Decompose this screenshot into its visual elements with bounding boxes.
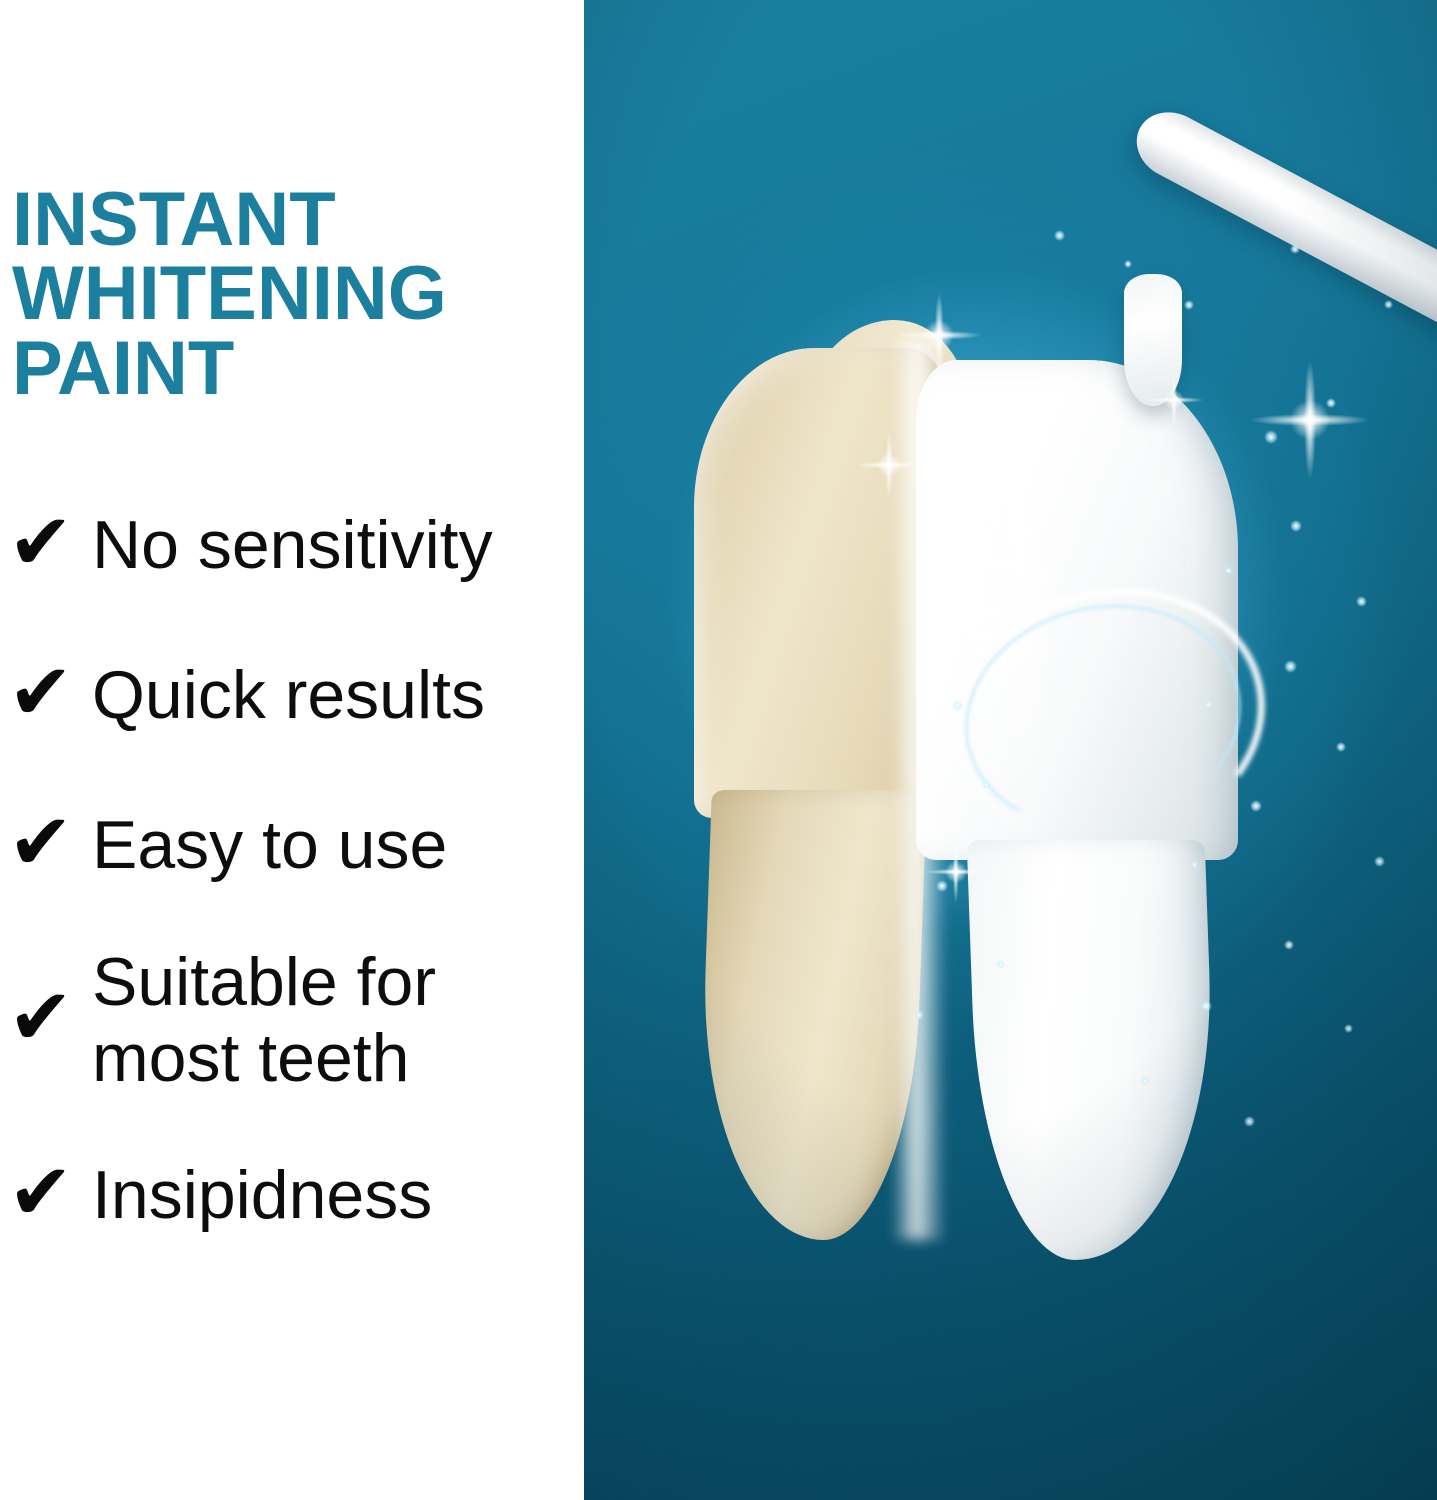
sparkle-dot [1204, 700, 1213, 709]
sparkle-dot [1054, 230, 1065, 241]
check-icon: ✔ [8, 979, 92, 1057]
list-item: ✔ Insipidness [0, 1120, 560, 1270]
sparkle-dot [982, 780, 991, 789]
sparkle-dot [1336, 742, 1346, 752]
benefit-list: ✔ No sensitivity ✔ Quick results ✔ Easy … [0, 470, 560, 1270]
sparkle-dot [914, 1010, 924, 1020]
sparkle-dot [1250, 800, 1262, 812]
check-icon: ✔ [8, 1154, 92, 1232]
sparkle-dot [1244, 1116, 1255, 1127]
sparkle-dot [1124, 260, 1132, 268]
list-item: ✔ Quick results [0, 620, 560, 770]
check-icon: ✔ [8, 804, 92, 882]
list-item: ✔ No sensitivity [0, 470, 560, 620]
sparkle-dot [1356, 596, 1367, 607]
list-item: ✔ Suitable for most teeth [0, 920, 560, 1120]
sparkle-dot [1140, 1076, 1150, 1086]
sparkle-dot [1190, 860, 1199, 869]
sparkle-dot [996, 960, 1005, 969]
sparkle-dot [1344, 1024, 1353, 1033]
check-icon: ✔ [8, 504, 92, 582]
benefit-label: Easy to use [92, 807, 560, 883]
benefit-label: No sensitivity [92, 507, 560, 583]
sparkle-dot [1326, 398, 1336, 408]
sparkle-dot [1290, 520, 1302, 532]
tooth-illustration [664, 300, 1304, 1250]
sparkle-dot [1374, 856, 1385, 867]
page-title: INSTANT WHITENING PAINT [12, 183, 552, 406]
sparkle-dot [1384, 300, 1393, 309]
sparkle-dot [1224, 566, 1233, 575]
benefit-label: Quick results [92, 657, 560, 733]
sparkle-dot [936, 880, 948, 892]
check-icon: ✔ [8, 654, 92, 732]
sparkle-dot [1290, 244, 1300, 254]
tooth-root-whitened [967, 840, 1220, 1260]
sparkle-dot [952, 700, 963, 711]
sparkle-dot [1284, 660, 1297, 673]
list-item: ✔ Easy to use [0, 770, 560, 920]
sparkle-dot [1264, 430, 1278, 444]
hero-image-panel [584, 0, 1437, 1500]
benefit-label: Insipidness [92, 1157, 560, 1233]
product-feature-graphic: INSTANT WHITENING PAINT ✔ No sensitivity… [0, 0, 1437, 1500]
applicator-paint-drip [1124, 274, 1182, 406]
sparkle-dot [1200, 1000, 1212, 1012]
copy-panel: INSTANT WHITENING PAINT ✔ No sensitivity… [0, 0, 584, 1500]
sparkle-dot [1284, 940, 1294, 950]
sparkle-dot [1184, 300, 1194, 310]
benefit-label: Suitable for most teeth [92, 944, 560, 1096]
